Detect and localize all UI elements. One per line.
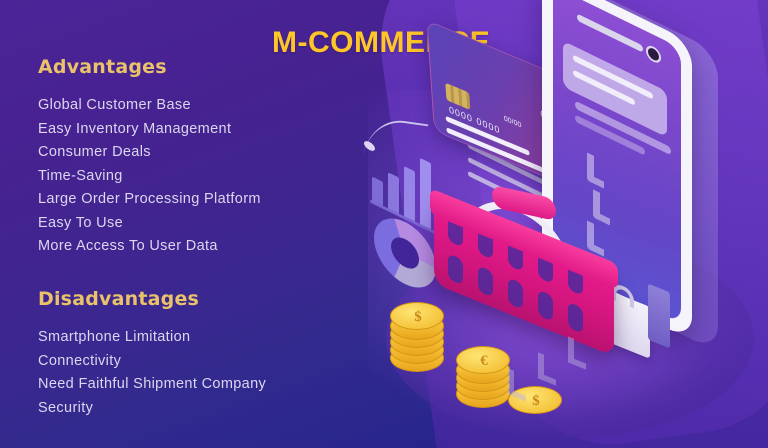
list-item: Easy Inventory Management [38, 118, 368, 142]
coin-stack-middle: € [456, 346, 512, 406]
coin-symbol: € [457, 347, 511, 375]
shopping-bag-side [648, 284, 670, 349]
advantages-heading: Advantages [38, 56, 368, 78]
disadvantages-section: Disadvantages Smartphone Limitation Conn… [38, 288, 368, 420]
list-item: Time-Saving [38, 165, 368, 189]
basket-slot [568, 302, 583, 334]
list-item: Smartphone Limitation [38, 326, 368, 350]
coin-top: € [456, 346, 510, 374]
checkmark-icon [587, 152, 604, 188]
list-item: Large Order Processing Platform [38, 188, 368, 212]
list-item: Global Customer Base [38, 94, 368, 118]
disadvantages-list: Smartphone Limitation Connectivity Need … [38, 326, 368, 420]
card-expiry: 00/00 [504, 115, 522, 130]
list-item: More Access To User Data [38, 235, 368, 259]
infographic-canvas: M-COMMERCE Advantages Global Customer Ba… [0, 0, 768, 448]
shopping-basket [434, 210, 616, 330]
list-item: Connectivity [38, 350, 368, 374]
basket-slot [508, 278, 523, 310]
phone-camera-icon [646, 43, 661, 65]
coin-stack-left: $ [390, 300, 446, 370]
basket-slot [478, 265, 493, 297]
basket-slot [448, 253, 463, 285]
basket-slot [538, 290, 553, 322]
disadvantages-heading: Disadvantages [38, 288, 368, 310]
list-item: Consumer Deals [38, 141, 368, 165]
bar-3 [404, 166, 415, 223]
phone-speaker-icon [577, 13, 643, 52]
list-item: Security [38, 397, 368, 421]
list-item: Need Faithful Shipment Company [38, 373, 368, 397]
coin-symbol: $ [391, 303, 445, 331]
advantages-list: Global Customer Base Easy Inventory Mana… [38, 94, 368, 259]
list-item: Easy To Use [38, 212, 368, 236]
mcommerce-illustration: Bank 0000 0000 0000 0000 00/00 [356, 0, 768, 448]
coin-top: $ [390, 302, 444, 330]
advantages-section: Advantages Global Customer Base Easy Inv… [38, 56, 368, 259]
